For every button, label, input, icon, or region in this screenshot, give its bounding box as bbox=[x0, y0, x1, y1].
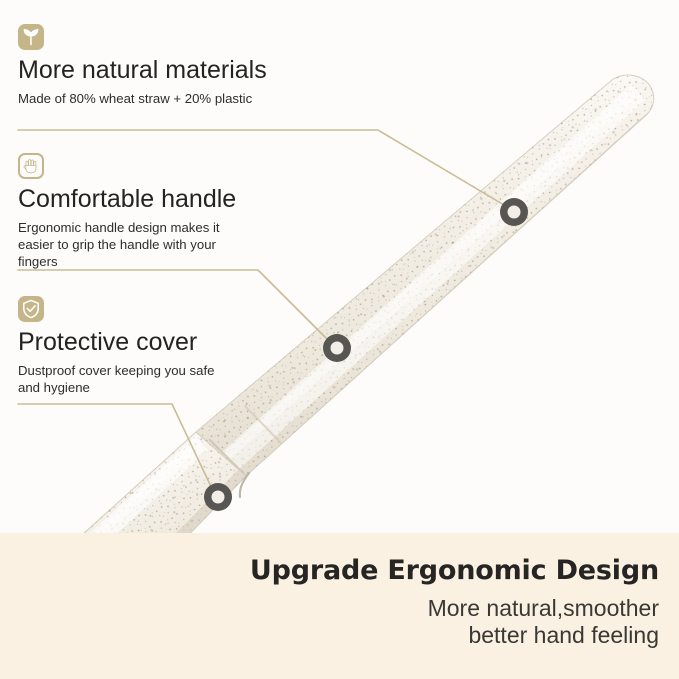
callout-desc: Made of 80% wheat straw + 20% plastic bbox=[18, 90, 267, 107]
callout-natural-materials: More natural materials Made of 80% wheat… bbox=[18, 24, 267, 107]
leaf-sprout-icon bbox=[18, 24, 44, 50]
banner-subtitle: More natural,smoother better hand feelin… bbox=[428, 595, 659, 649]
callout-title: Comfortable handle bbox=[18, 185, 236, 213]
callout-comfortable-handle: Comfortable handle Ergonomic handle desi… bbox=[18, 153, 236, 270]
callout-title: Protective cover bbox=[18, 328, 214, 356]
marker-1 bbox=[500, 198, 528, 226]
banner-title: Upgrade Ergonomic Design bbox=[250, 555, 659, 586]
callout-desc: Ergonomic handle design makes it easier … bbox=[18, 219, 236, 270]
product-infographic: More natural materials Made of 80% wheat… bbox=[0, 0, 679, 679]
callout-desc: Dustproof cover keeping you safe and hyg… bbox=[18, 362, 214, 396]
marker-3 bbox=[204, 483, 232, 511]
hand-palm-icon bbox=[18, 153, 44, 179]
marker-2 bbox=[323, 334, 351, 362]
callout-markers bbox=[204, 198, 528, 511]
callout-protective-cover: Protective cover Dustproof cover keeping… bbox=[18, 296, 214, 396]
leader-line-3 bbox=[18, 404, 214, 493]
shield-check-icon bbox=[18, 296, 44, 322]
callout-title: More natural materials bbox=[18, 56, 267, 84]
bottom-banner: Upgrade Ergonomic Design More natural,sm… bbox=[0, 533, 679, 679]
product-handle bbox=[150, 60, 679, 500]
